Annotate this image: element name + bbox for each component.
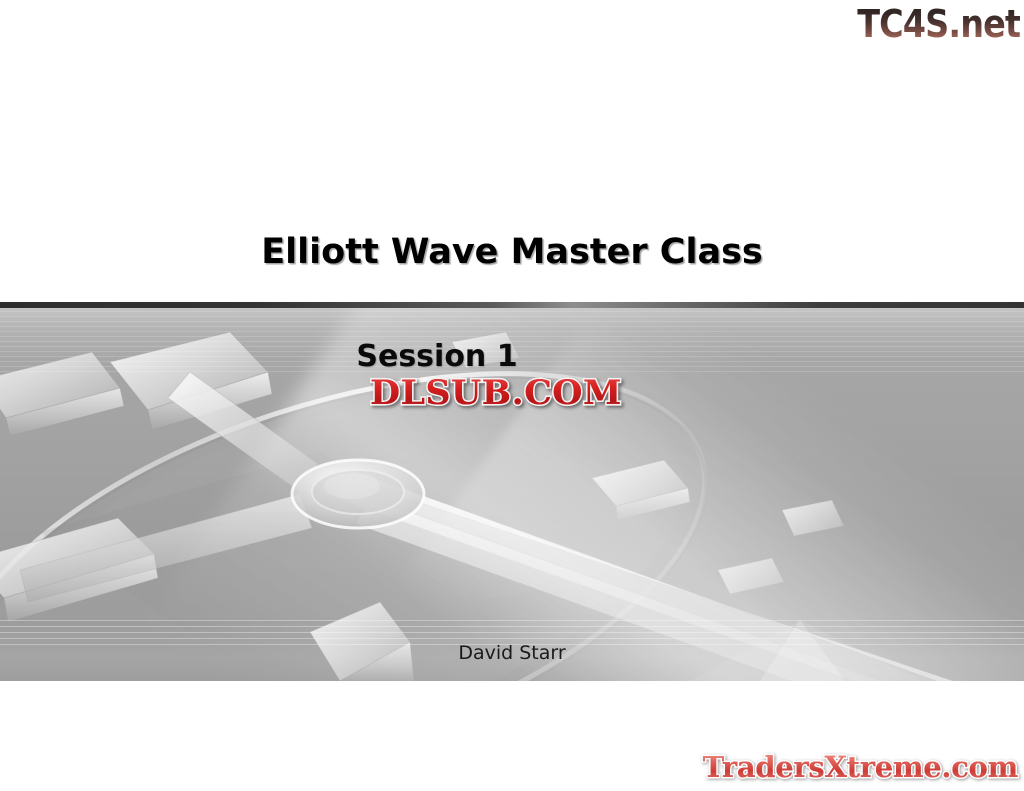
tc4s-site-logo: TC4S.net <box>857 4 1020 44</box>
presentation-slide: TC4S.net Elliott Wave Master Class <box>0 0 1024 791</box>
dlsub-watermark-fill: DLSUB.COM <box>370 374 622 412</box>
session-label: Session 1 <box>0 339 1024 374</box>
tradersxtreme-site-logo: TradersXtreme.com TradersXtreme.com <box>703 751 1018 783</box>
dlsub-watermark: DLSUB.COM DLSUB.COM <box>370 374 622 412</box>
band-top-divider <box>0 302 1024 308</box>
slide-title: Elliott Wave Master Class <box>0 232 1024 272</box>
tradersxtreme-logo-fill: TradersXtreme.com <box>703 751 1018 783</box>
presenter-name: David Starr <box>0 642 1024 664</box>
